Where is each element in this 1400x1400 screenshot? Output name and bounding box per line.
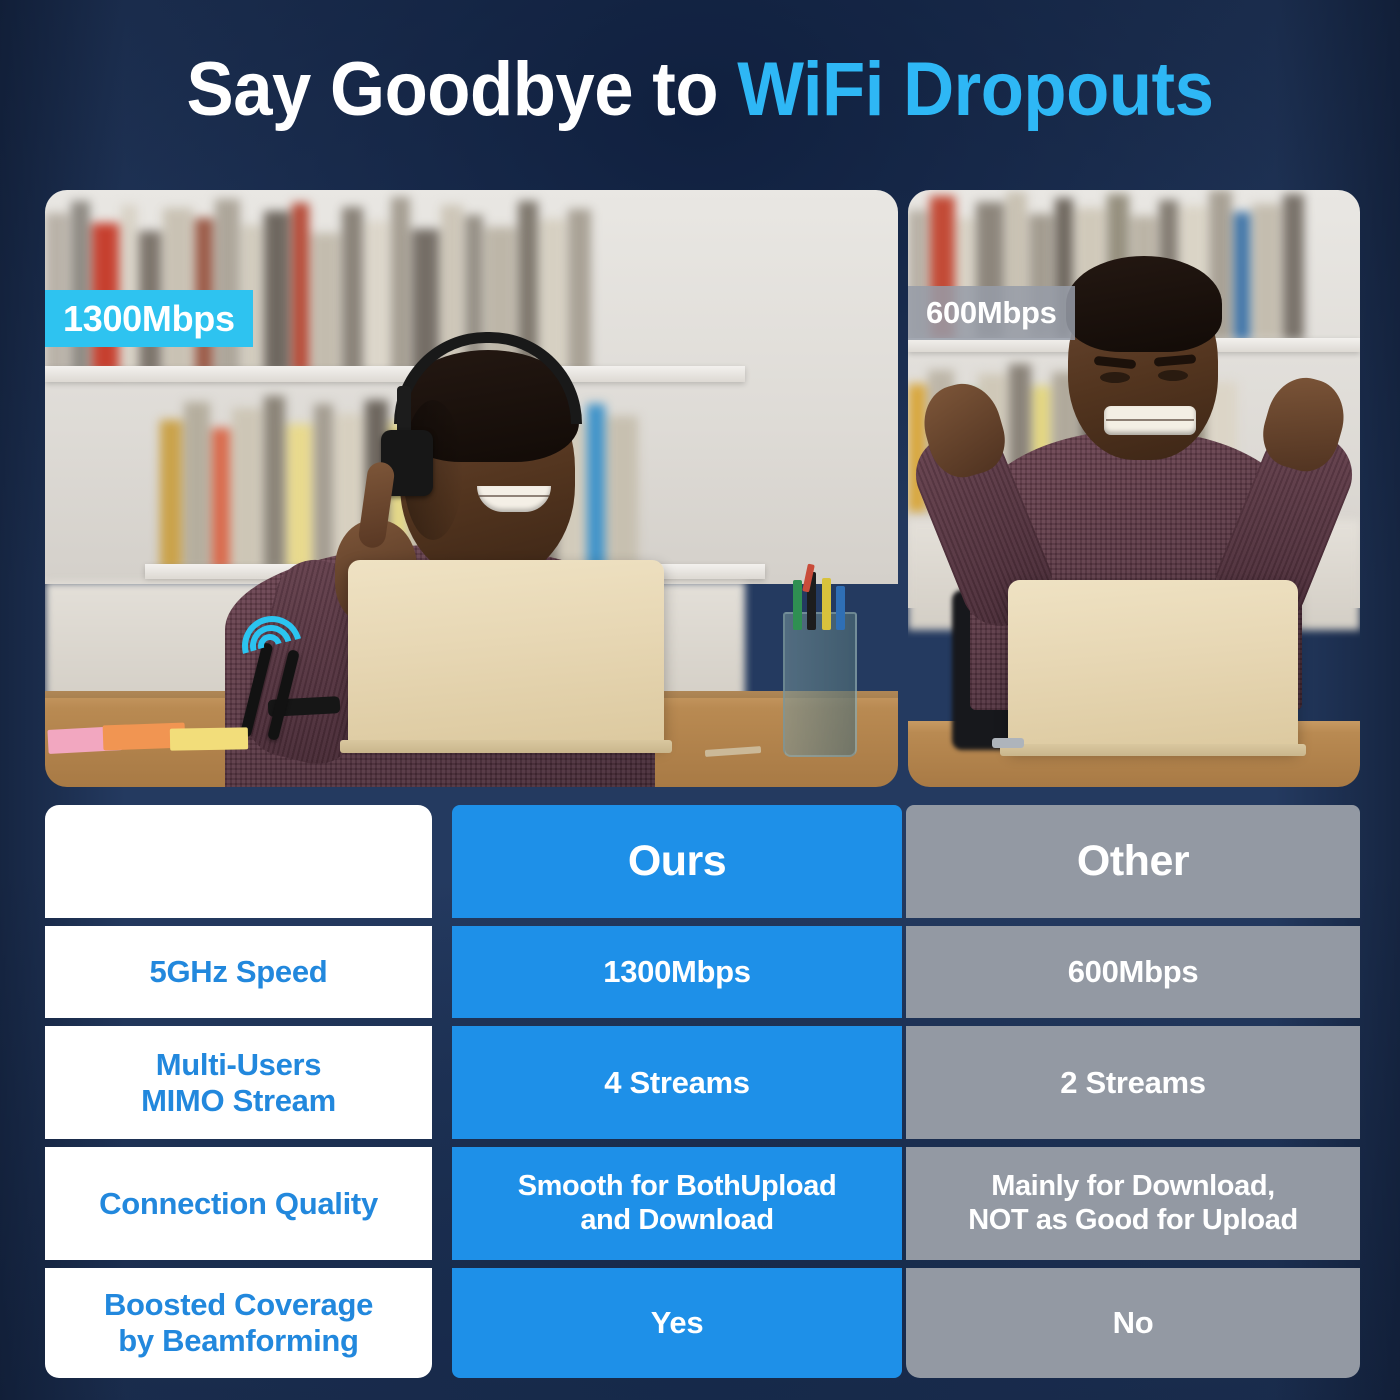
laptop-base-right <box>1000 744 1306 756</box>
photo-left-scene <box>45 190 898 787</box>
row-other-line: NOT as Good for Upload <box>968 1204 1298 1237</box>
row-other-cell: 2 Streams <box>906 1026 1360 1139</box>
row-ours-line: and Download <box>580 1204 773 1237</box>
photo-right-scene <box>908 190 1360 787</box>
pen-blue <box>836 586 845 630</box>
badge-600mbps: 600Mbps <box>908 286 1075 340</box>
teeth-divider-right <box>1106 419 1194 421</box>
row-label-line: Connection Quality <box>99 1186 378 1222</box>
pen-green <box>793 580 802 630</box>
badge-right-text: 600Mbps <box>926 295 1057 331</box>
teeth-divider <box>479 495 549 497</box>
comparison-table: Ours Other 5GHz Speed 1300Mbps 600Mbps M… <box>45 805 1360 1378</box>
laptop-lid <box>348 560 664 745</box>
happy-user-photo: 1300Mbps <box>45 190 898 787</box>
person-hair-right <box>1066 256 1222 352</box>
row-label-cell: Multi-Users MIMO Stream <box>45 1026 432 1139</box>
header-cell-blank <box>45 805 432 918</box>
row-ours-cell: 4 Streams <box>452 1026 902 1139</box>
row-label-line: Boosted Coverage <box>104 1287 373 1323</box>
shelf-board-top <box>45 366 745 382</box>
row-label-line: Multi-Users <box>156 1047 322 1083</box>
row-other-line: Mainly for Download, <box>991 1170 1275 1203</box>
person-eye-left <box>1100 372 1130 383</box>
row-label-cell: 5GHz Speed <box>45 926 432 1018</box>
row-other-line: No <box>1113 1305 1154 1341</box>
row-other-cell: 600Mbps <box>906 926 1360 1018</box>
sticky-note-yellow <box>170 727 248 750</box>
header-cell-ours: Ours <box>452 805 902 918</box>
row-other-cell: Mainly for Download, NOT as Good for Upl… <box>906 1147 1360 1260</box>
header-other-label: Other <box>1077 837 1189 886</box>
person-eye-right <box>1158 370 1188 381</box>
badge-1300mbps: 1300Mbps <box>45 290 253 347</box>
row-other-line: 600Mbps <box>1068 954 1199 990</box>
row-other-cell: No <box>906 1268 1360 1378</box>
row-ours-line: 1300Mbps <box>603 954 751 990</box>
table-row: 5GHz Speed 1300Mbps 600Mbps <box>45 926 1360 1018</box>
row-ours-line: 4 Streams <box>604 1065 750 1101</box>
row-label-line: by Beamforming <box>118 1323 358 1359</box>
page-title-accent-part: WiFi Dropouts <box>737 47 1213 132</box>
page-title: Say Goodbye to WiFi Dropouts <box>49 52 1351 128</box>
page-title-white-part: Say Goodbye to <box>187 47 738 132</box>
table-header-row: Ours Other <box>45 805 1360 918</box>
row-other-line: 2 Streams <box>1060 1065 1206 1101</box>
table-row: Connection Quality Smooth for BothUpload… <box>45 1147 1360 1260</box>
badge-left-text: 1300Mbps <box>63 298 235 340</box>
header-ours-label: Ours <box>628 837 726 886</box>
row-ours-cell: Smooth for BothUpload and Download <box>452 1147 902 1260</box>
pen-holder-cup <box>783 612 857 757</box>
row-label-cell: Connection Quality <box>45 1147 432 1260</box>
table-row: Multi-Users MIMO Stream 4 Streams 2 Stre… <box>45 1026 1360 1139</box>
row-label-cell: Boosted Coverage by Beamforming <box>45 1268 432 1378</box>
laptop-base <box>340 740 672 753</box>
frustrated-user-photo: 600Mbps <box>908 190 1360 787</box>
row-ours-cell: 1300Mbps <box>452 926 902 1018</box>
infographic-page: Say Goodbye to WiFi Dropouts <box>0 0 1400 1400</box>
row-label-line: MIMO Stream <box>141 1083 336 1119</box>
pen-yellow <box>822 578 831 630</box>
row-ours-line: Yes <box>651 1305 704 1341</box>
row-ours-cell: Yes <box>452 1268 902 1378</box>
laptop-lid-right <box>1008 580 1298 750</box>
row-ours-line: Smooth for BothUpload <box>518 1170 837 1203</box>
table-row: Boosted Coverage by Beamforming Yes No <box>45 1268 1360 1378</box>
laptop-edge-detail <box>992 738 1024 748</box>
header-cell-other: Other <box>906 805 1360 918</box>
row-label-line: 5GHz Speed <box>150 954 328 990</box>
